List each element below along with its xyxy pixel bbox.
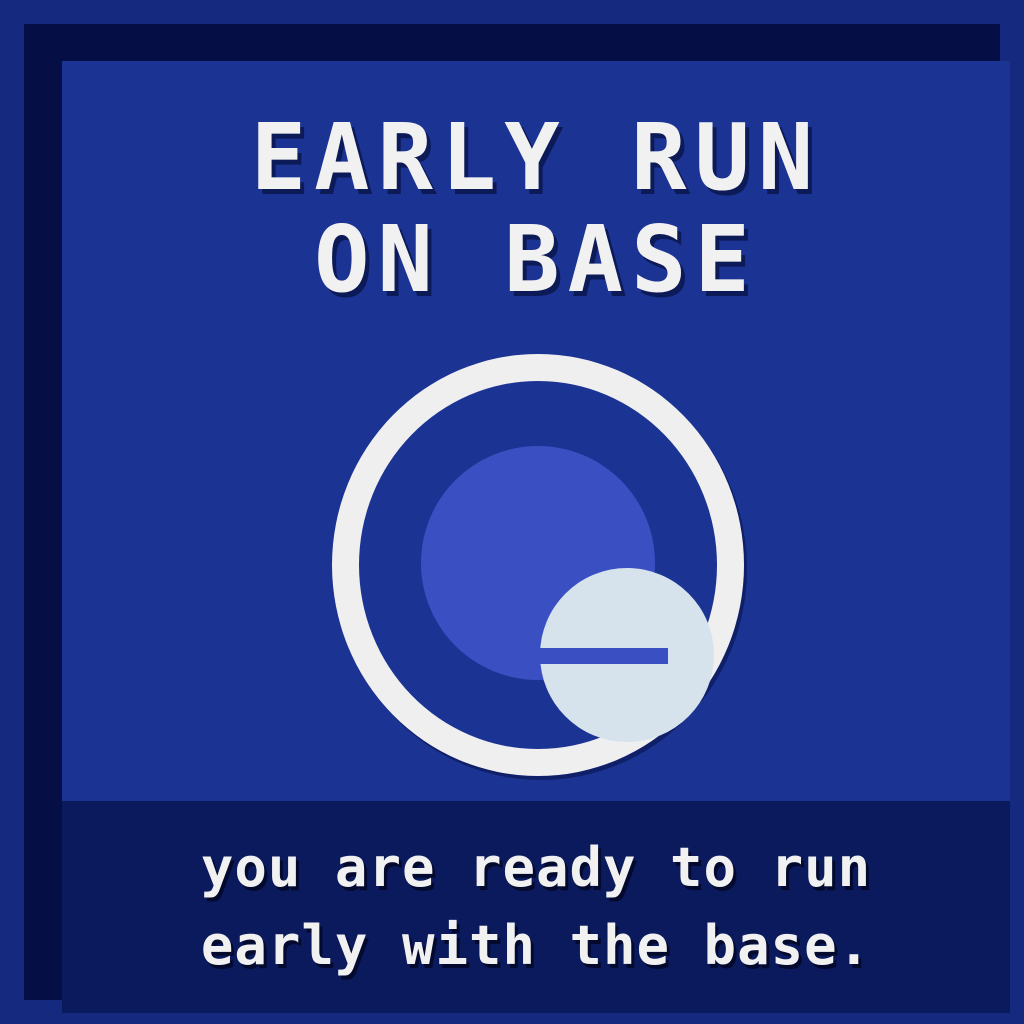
base-logo-badge-icon xyxy=(332,354,744,778)
title-line-1: EARLY RUN xyxy=(62,106,1010,210)
pixel-art-card: EARLY RUN ON BASE you are ready to run e… xyxy=(0,0,1024,1024)
badge-mid-circle-icon xyxy=(421,446,655,680)
title-line-2: ON BASE xyxy=(62,210,1010,310)
card-frame-border: EARLY RUN ON BASE you are ready to run e… xyxy=(24,24,1000,1000)
caption-band: you are ready to run early with the base… xyxy=(62,801,1010,1013)
caption-line-1: you are ready to run xyxy=(201,829,871,907)
caption-line-2: early with the base. xyxy=(201,907,871,985)
badge-horizontal-bar-icon xyxy=(539,648,668,664)
page-title: EARLY RUN ON BASE xyxy=(62,106,1010,310)
card-panel: EARLY RUN ON BASE you are ready to run e… xyxy=(62,61,1010,1013)
